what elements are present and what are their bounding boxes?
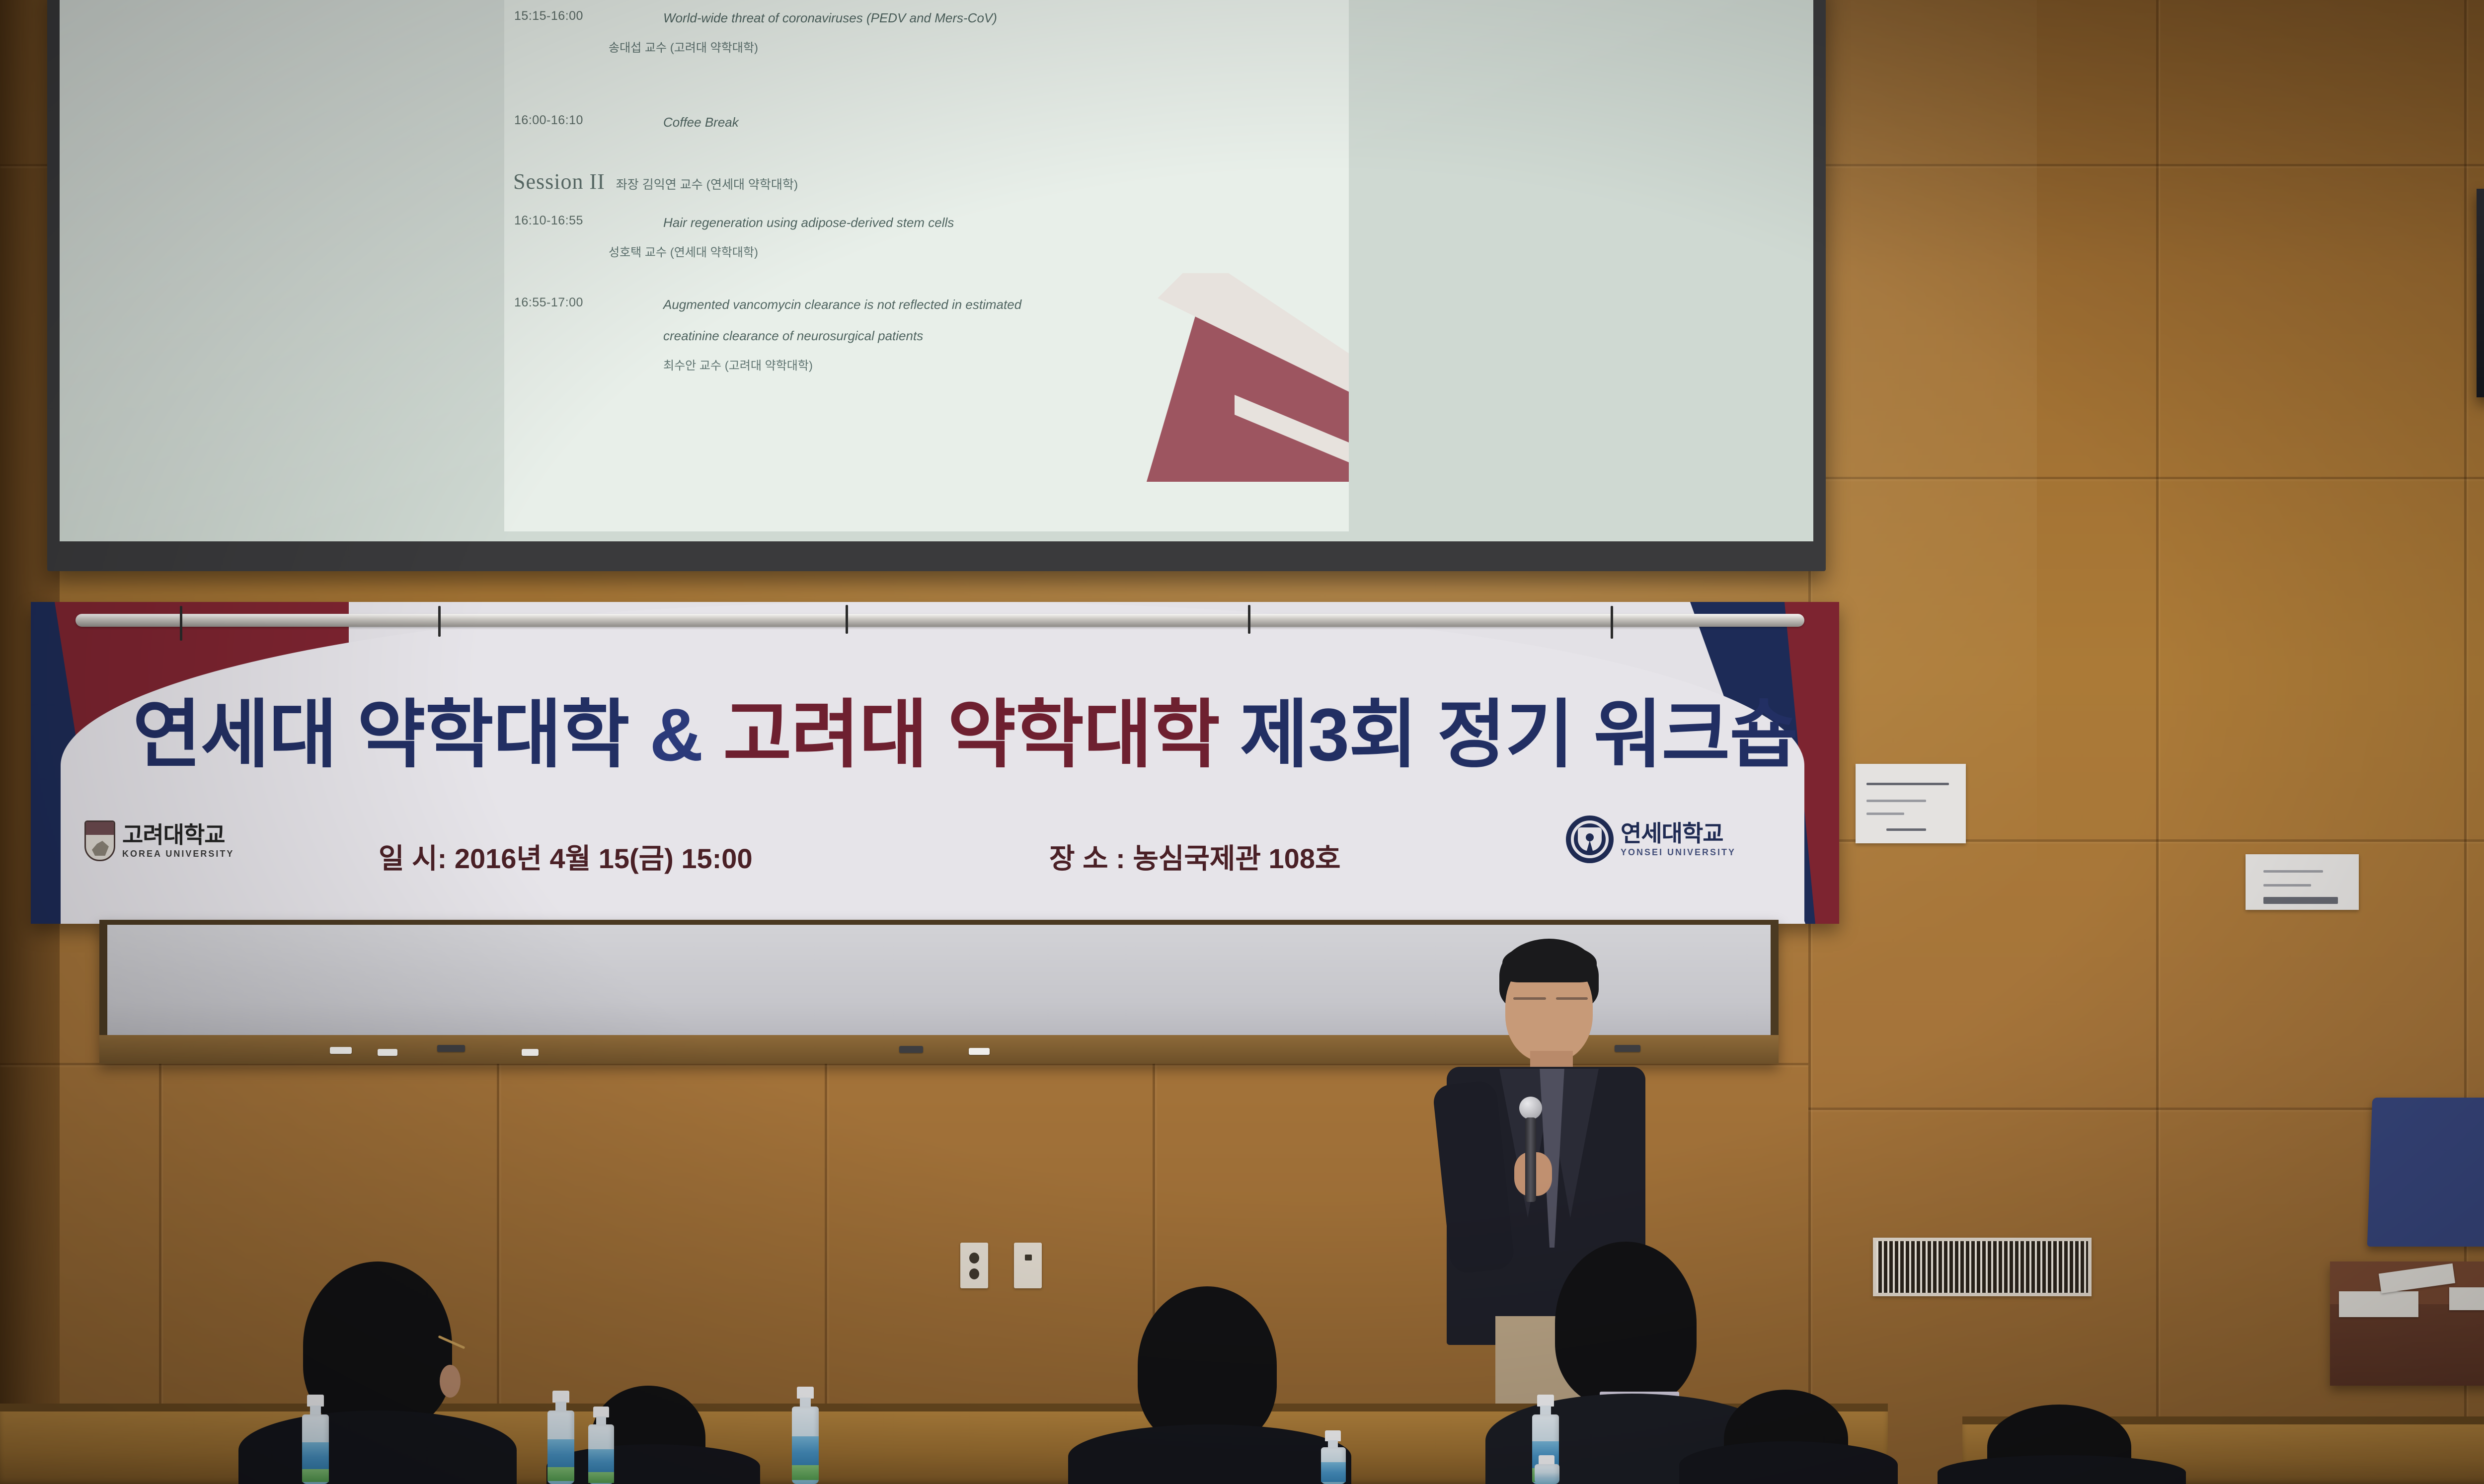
slide-row-speaker: 성호택 교수 (연세대 약학대학) [609,244,758,261]
banner-title-part-2: 고려대 약학대학 [723,693,1220,776]
water-bottle[interactable] [586,1407,616,1484]
paper-stack[interactable] [2339,1291,2418,1317]
slide-row: 15:15-16:00 World-wide threat of coronav… [514,9,997,27]
whiteboard-marker[interactable] [437,1045,465,1052]
whiteboard-marker[interactable] [378,1049,397,1056]
banner-title: 연세대 약학대학 & 고려대 약학대학 제3회 정기 워크숍 [133,697,1798,772]
wall-notice-small [2246,854,2359,910]
slide-row: 16:55-17:00 Augmented vancomycin clearan… [514,296,1021,314]
audience-ear [440,1365,461,1398]
audience-head [1138,1286,1277,1445]
banner-tie [1611,606,1613,639]
yonsei-emblem-icon [1566,816,1614,863]
banner-top-pipe [76,614,1804,627]
banner-title-part-1: 연세대 약학대학 [133,693,629,776]
ku-name-en: KOREA UNIVERSITY [122,849,234,858]
wall-outlet[interactable] [960,1243,988,1288]
banner-tie [438,606,441,637]
event-banner: 연세대 약학대학 & 고려대 약학대학 제3회 정기 워크숍 고려대학교 KOR… [31,602,1839,924]
banner-title-amp: & [629,693,723,776]
hvac-vent-grille [1876,1241,2088,1293]
session-label: Session II [513,169,605,194]
ku-shield-icon [84,820,115,861]
presenter-glasses [1556,997,1588,1000]
place-value: 농심국제관 108호 [1133,843,1340,874]
audience-head [1555,1242,1697,1406]
slide-time: 15:15-16:00 [514,9,663,23]
slide-time: 16:10-16:55 [514,214,663,228]
wall-seam [1808,477,2484,479]
slide-row-cont: creatinine clearance of neurosurgical pa… [663,327,923,345]
microphone-body [1525,1117,1536,1202]
slide-time: 16:55-17:00 [514,296,663,310]
wall-seam [2156,0,2159,1484]
water-bottle[interactable] [1319,1430,1348,1484]
slide-row: 16:10-16:55 Hair regeneration using adip… [514,214,954,232]
audience-shoulders [1679,1441,1898,1484]
presenter-hair-top [1502,944,1597,982]
banner-tie [846,605,848,634]
slide-title-2: creatinine clearance of neurosurgical pa… [663,327,923,345]
ku-name-kr: 고려대학교 [122,823,234,846]
microphone-head [1519,1097,1542,1119]
slide-row-speaker: 최수안 교수 (고려대 약학대학) [663,358,813,374]
water-bottle[interactable] [1533,1455,1561,1484]
water-bottle[interactable] [545,1391,576,1484]
whiteboard-eraser[interactable] [330,1047,352,1054]
blue-chair[interactable] [2355,1098,2484,1286]
slide-title: Augmented vancomycin clearance is not re… [663,296,1021,314]
hvac-vent [1873,1238,2092,1296]
slide-time: 16:00-16:10 [514,113,663,128]
side-table [2330,1261,2484,1386]
session-chair: 좌장 김익연 교수 (연세대 약학대학) [616,175,798,193]
place-label: 장 소 : [1049,843,1125,874]
wall-switch[interactable] [1014,1243,1042,1288]
lecture-hall-photo: 김승현 교수 (연세대 약학대학) 15:15-16:00 World-wide… [0,0,2484,1484]
date-label: 일 시: [379,843,447,874]
presenter-glasses [1513,997,1546,1000]
banner-datetime: 일 시: 2016년 4월 15(금) 15:00 [379,836,753,877]
presentation-slide: 김승현 교수 (연세대 약학대학) 15:15-16:00 World-wide… [504,0,1349,531]
audience-shoulders [238,1410,517,1484]
slide-title: World-wide threat of coronaviruses (PEDV… [663,9,997,27]
banner-title-part-3: 제3회 정기 워크숍 [1220,693,1797,776]
audience-shoulders [1068,1424,1351,1484]
water-bottle[interactable] [790,1387,821,1484]
date-value: 2016년 4월 15(금) 15:00 [455,843,753,874]
slide-title: Hair regeneration using adipose-derived … [663,214,954,232]
water-bottle[interactable] [300,1395,331,1484]
korea-university-logo: 고려대학교 KOREA UNIVERSITY [84,820,234,861]
slide-speaker: 성호택 교수 (연세대 약학대학) [609,244,758,261]
yu-name-kr: 연세대학교 [1621,822,1736,845]
slide-title: Coffee Break [663,113,739,132]
microphone[interactable] [1515,1097,1555,1206]
yu-name-en: YONSEI UNIVERSITY [1621,848,1736,857]
yonsei-university-logo: 연세대학교 YONSEI UNIVERSITY [1566,816,1736,863]
slide-session-header: Session II 좌장 김익연 교수 (연세대 약학대학) [513,169,798,194]
wall-notice-large [1856,764,1966,843]
banner-tie [1248,605,1250,634]
slide-speaker: 송대섭 교수 (고려대 약학대학) [609,40,758,57]
wall-speaker [2477,189,2484,397]
slide-photo-inset [1145,253,1349,482]
whiteboard-marker[interactable] [899,1046,923,1053]
slide-speaker: 최수안 교수 (고려대 약학대학) [663,358,813,374]
slide-row: 16:00-16:10 Coffee Break [514,113,739,132]
audience-shoulders [546,1444,760,1484]
paper-sheet[interactable] [2449,1287,2484,1310]
whiteboard-marker[interactable] [522,1049,539,1056]
slide-row-speaker: 송대섭 교수 (고려대 약학대학) [609,40,758,57]
banner-location: 장 소 : 농심국제관 108호 [1049,836,1341,877]
whiteboard-marker[interactable] [969,1048,990,1055]
banner-tie [180,606,182,641]
chair-backrest [2367,1098,2484,1247]
